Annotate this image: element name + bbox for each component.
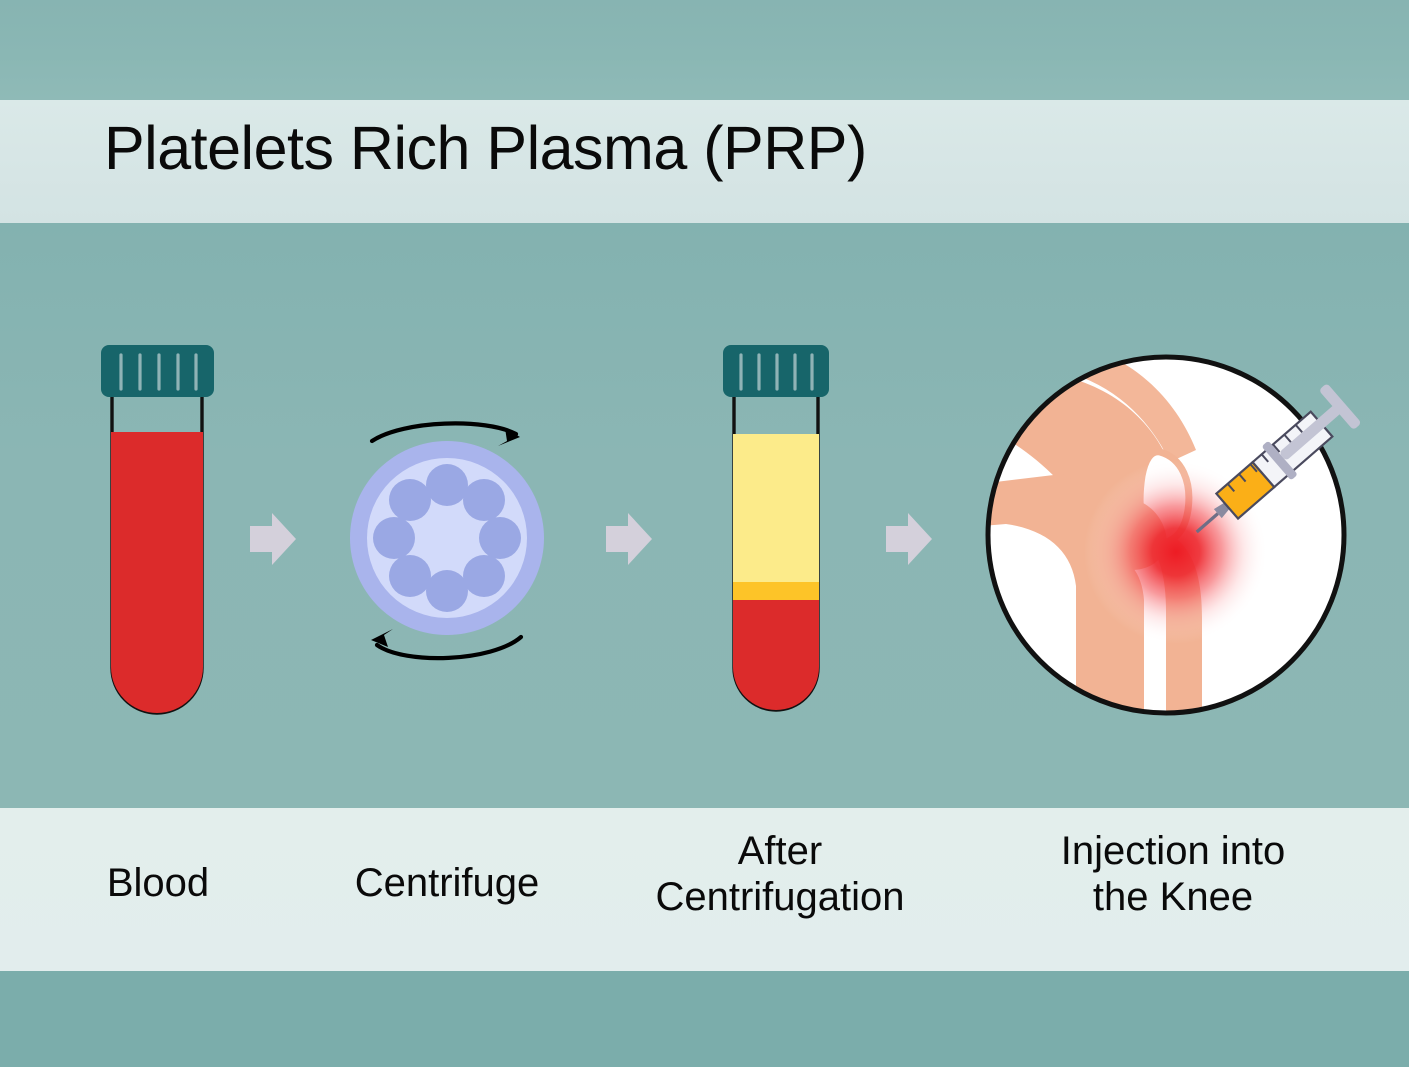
- step-injection-graphic: [952, 345, 1362, 730]
- red-cells-layer: [730, 600, 822, 722]
- step-centrifuge-graphic: [350, 423, 544, 658]
- step-label-injection: Injection into the Knee: [1020, 828, 1326, 921]
- whole-blood-fill: [108, 432, 206, 722]
- arrow-right-icon-1: [250, 513, 296, 565]
- arc-arrow-clockwise-head: [498, 428, 520, 446]
- arc-arrow-counterclockwise-icon: [377, 637, 521, 658]
- test-tube-cap: [101, 345, 214, 397]
- arrow-right-icon-2: [606, 513, 652, 565]
- step-label-after-centrifugation: After Centrifugation: [630, 828, 930, 921]
- step-label-centrifuge: Centrifuge: [320, 860, 574, 906]
- plasma-layer: [730, 434, 822, 582]
- buffy-coat-layer: [730, 582, 822, 600]
- step-label-blood: Blood: [40, 860, 276, 906]
- step-after-centrifugation-graphic: [723, 345, 829, 722]
- separated-fill: [730, 434, 822, 722]
- arc-arrow-clockwise-icon: [372, 423, 516, 441]
- test-tube-cap: [723, 345, 829, 397]
- step-blood-graphic: [101, 345, 214, 722]
- arrow-right-icon-3: [886, 513, 932, 565]
- prp-infographic: Platelets Rich Plasma (PRP): [0, 0, 1409, 1067]
- arc-arrow-counterclockwise-head: [371, 629, 393, 647]
